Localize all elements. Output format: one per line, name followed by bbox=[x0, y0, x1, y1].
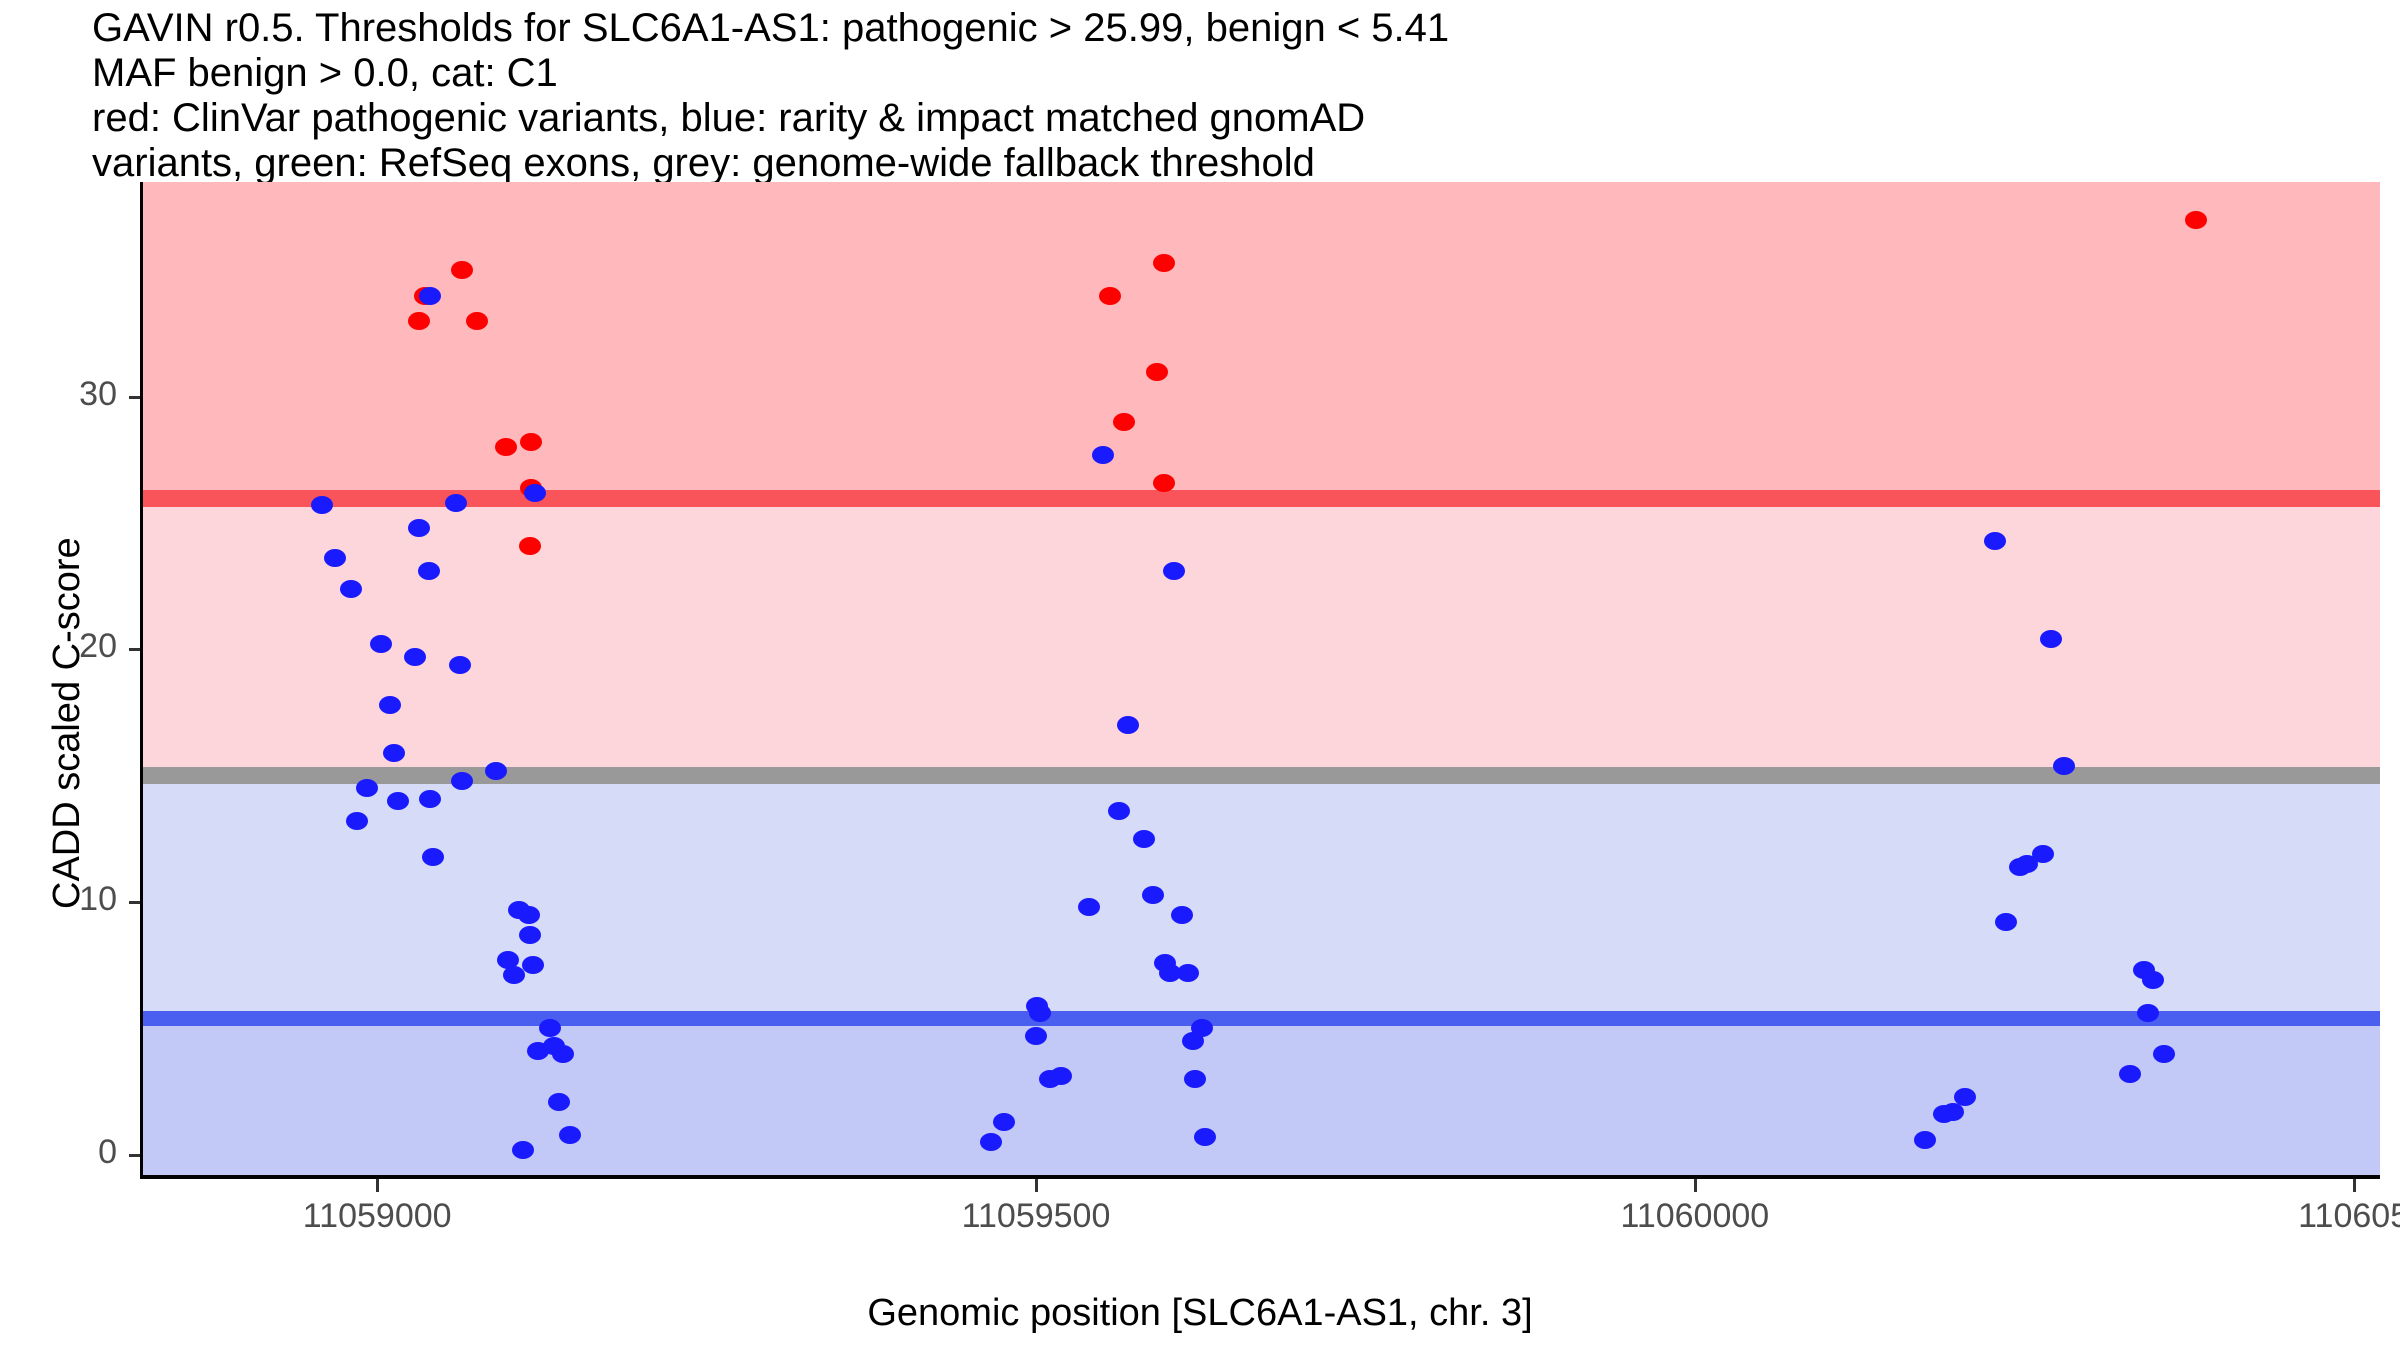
point-gnomad bbox=[1171, 906, 1193, 924]
point-gnomad bbox=[449, 656, 471, 674]
y-tick-mark bbox=[129, 1154, 140, 1157]
chart-title-block: GAVIN r0.5. Thresholds for SLC6A1-AS1: p… bbox=[92, 6, 2372, 186]
x-tick-mark bbox=[376, 1179, 379, 1192]
band-benign bbox=[140, 1018, 2380, 1175]
point-pathogenic bbox=[1146, 363, 1168, 381]
y-tick-label: 0 bbox=[0, 1133, 117, 1172]
x-tick-mark bbox=[2353, 1179, 2356, 1192]
plot-panel bbox=[140, 182, 2380, 1175]
band-vous-lower bbox=[140, 776, 2380, 1018]
title-line-3: red: ClinVar pathogenic variants, blue: … bbox=[92, 96, 2372, 141]
x-axis-line bbox=[140, 1175, 2380, 1179]
point-gnomad bbox=[485, 762, 507, 780]
point-gnomad bbox=[356, 779, 378, 797]
point-gnomad bbox=[1194, 1128, 1216, 1146]
y-tick-mark bbox=[129, 901, 140, 904]
y-tick-mark bbox=[129, 396, 140, 399]
point-gnomad bbox=[1078, 898, 1100, 916]
pathogenic-threshold-line bbox=[140, 490, 2380, 507]
x-tick-mark bbox=[1694, 1179, 1697, 1192]
point-gnomad bbox=[419, 287, 441, 305]
point-gnomad bbox=[2053, 757, 2075, 775]
x-tick-label: 11059000 bbox=[237, 1197, 517, 1236]
point-gnomad bbox=[1133, 830, 1155, 848]
y-tick-label: 30 bbox=[0, 375, 117, 414]
x-tick-label: 110605 bbox=[2214, 1197, 2400, 1236]
point-gnomad bbox=[1177, 964, 1199, 982]
point-gnomad bbox=[2153, 1045, 2175, 1063]
point-gnomad bbox=[519, 926, 541, 944]
x-tick-label: 11060000 bbox=[1555, 1197, 1835, 1236]
point-gnomad bbox=[1142, 886, 1164, 904]
point-pathogenic bbox=[451, 261, 473, 279]
point-gnomad bbox=[422, 848, 444, 866]
point-gnomad bbox=[1914, 1131, 1936, 1149]
point-pathogenic bbox=[1153, 474, 1175, 492]
point-gnomad bbox=[522, 956, 544, 974]
y-tick-mark bbox=[129, 648, 140, 651]
point-gnomad bbox=[451, 772, 473, 790]
point-gnomad bbox=[518, 906, 540, 924]
title-line-1: GAVIN r0.5. Thresholds for SLC6A1-AS1: p… bbox=[92, 6, 2372, 51]
point-gnomad bbox=[1984, 532, 2006, 550]
point-pathogenic bbox=[519, 537, 541, 555]
point-gnomad bbox=[548, 1093, 570, 1111]
point-gnomad bbox=[524, 484, 546, 502]
point-pathogenic bbox=[1099, 287, 1121, 305]
point-gnomad bbox=[445, 494, 467, 512]
point-gnomad bbox=[552, 1045, 574, 1063]
point-gnomad bbox=[1025, 1027, 1047, 1045]
point-gnomad bbox=[340, 580, 362, 598]
fallback-threshold-line bbox=[140, 767, 2380, 784]
point-gnomad bbox=[419, 790, 441, 808]
point-gnomad bbox=[2032, 845, 2054, 863]
point-gnomad bbox=[1092, 446, 1114, 464]
plot-area bbox=[140, 182, 2380, 1175]
band-pathogenic bbox=[140, 182, 2380, 498]
point-gnomad bbox=[559, 1126, 581, 1144]
y-axis-title: CADD scaled C-score bbox=[46, 537, 89, 909]
point-gnomad bbox=[1954, 1088, 1976, 1106]
x-tick-mark bbox=[1035, 1179, 1038, 1192]
point-pathogenic bbox=[2185, 211, 2207, 229]
point-gnomad bbox=[2119, 1065, 2141, 1083]
chart-root: GAVIN r0.5. Thresholds for SLC6A1-AS1: p… bbox=[0, 0, 2400, 1350]
title-line-2: MAF benign > 0.0, cat: C1 bbox=[92, 51, 2372, 96]
y-axis-line bbox=[140, 182, 143, 1175]
x-axis-title: Genomic position [SLC6A1-AS1, chr. 3] bbox=[0, 1292, 2400, 1335]
point-pathogenic bbox=[1153, 254, 1175, 272]
title-line-4: variants, green: RefSeq exons, grey: gen… bbox=[92, 141, 2372, 186]
benign-threshold-line bbox=[140, 1011, 2380, 1026]
point-gnomad bbox=[512, 1141, 534, 1159]
point-gnomad bbox=[418, 562, 440, 580]
x-tick-label: 11059500 bbox=[896, 1197, 1176, 1236]
point-gnomad bbox=[2040, 630, 2062, 648]
